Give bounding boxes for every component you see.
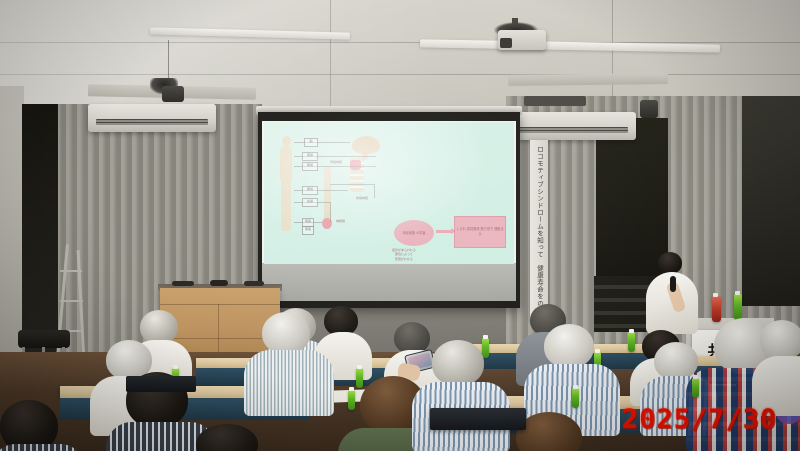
photo-scene: ロコモティブシンドロームを知って 健康寿命をのばそう [0,0,800,451]
brain-icon [352,136,380,154]
green-tea-bottle [692,378,699,398]
dark-notebook-center [430,408,526,430]
slide-callout-4: 仙髄 [302,198,318,207]
attendee-torso [244,350,334,416]
attendee-head [262,312,310,354]
speaker-icon-left [162,86,184,102]
callout-line [374,184,375,198]
slide-callout-6: 馬尾 [302,226,314,235]
bottle-cap-icon [483,335,488,339]
attendee-head [432,340,484,386]
event-banner-vertical: ロコモティブシンドロームを知って 健康寿命をのばそう [530,140,548,322]
callout-line [294,166,376,167]
presenter-head [658,252,682,274]
callout-line [294,190,348,191]
attendee-head [654,342,698,380]
slide-side-label-1: 末梢神経 [356,196,368,200]
slide-callout-2: 胸髄 [302,162,318,171]
red-thermos-bottle [712,296,721,322]
bottle-cap-icon [713,293,718,297]
ac-duct-right [524,96,586,106]
bottle-cap-icon [629,329,634,333]
ceiling-wire [168,40,169,82]
brainstem-icon [362,152,368,160]
bottle-cap-icon [595,349,600,353]
projector-lens-icon [500,38,512,48]
slide-side-label-0: 脊髄神経 [330,160,342,164]
bottle-cap-icon [693,375,698,379]
ac-vent-icon [96,119,209,125]
slide-ellipse-callout: 神経細胞 の障害 [394,220,434,246]
slide-caption: 症状があらわれる 部位によって 原因がわかる [392,248,416,261]
bottle-cap-icon [573,385,578,389]
green-tea-bottle [356,368,363,388]
bottle-cap-icon [173,365,178,369]
green-tea-bottle [572,388,579,408]
slide-symptom-box: しびれ 感覚異常 筋力低下 運動まひ [454,216,506,248]
microphone-icon [670,276,676,292]
callout-line [330,202,331,222]
vertebrae-icon [350,158,364,192]
bottle-cap-icon [735,291,740,295]
wall-far-right [742,96,800,306]
green-tea-bottle [628,332,635,352]
dark-alcove-right [596,118,668,298]
chair-seat [18,330,70,348]
air-conditioner-right [506,112,636,140]
slide-callout-5: 馬尾 [302,218,314,227]
spinal-cord-icon [324,166,331,224]
projection-screen: 脳 頸髄 胸髄 腰髄 仙髄 馬尾 馬尾 脊髄神経 末梢神経 神経根 神経細胞 の… [258,112,520,308]
dark-notebook-left [126,376,196,392]
attendee-head [760,320,800,360]
green-tea-bottle [482,338,489,358]
bottle-cap-icon [357,365,362,369]
ceiling-light-housing-2 [508,73,668,86]
banner-vertical-text: ロコモティブシンドロームを知って 健康寿命をのばそう [535,146,544,328]
slide-callout-0: 脳 [304,138,318,147]
attendee-head [140,310,178,344]
attendee-head [544,324,594,368]
body-silhouette-icon [278,136,294,232]
nerve-node-icon-2 [322,218,332,229]
screen-lower-band [262,263,516,301]
ac-vent-icon [514,127,628,133]
air-conditioner-left [88,104,216,132]
cabinet-top-items [172,280,268,288]
slide-arrow-icon [436,230,452,233]
slide-side-label-2: 神経根 [336,219,345,223]
callout-line [294,222,322,223]
presentation-slide: 脳 頸髄 胸髄 腰髄 仙髄 馬尾 馬尾 脊髄神経 末梢神経 神経根 神経細胞 の… [264,122,514,264]
camera-timestamp: 2025/7/30 [622,404,777,435]
speaker-icon-right [640,100,658,118]
callout-line [294,142,350,143]
nerve-node-icon-1 [350,160,361,170]
callout-line [294,156,376,157]
callout-line [294,202,330,203]
slide-callout-3: 腰髄 [302,186,318,195]
green-tea-bottle [734,294,742,320]
green-tea-bottle [348,390,355,410]
slide-callout-1: 頸髄 [302,152,318,161]
bottle-cap-icon [349,387,354,391]
callout-line [330,184,374,185]
